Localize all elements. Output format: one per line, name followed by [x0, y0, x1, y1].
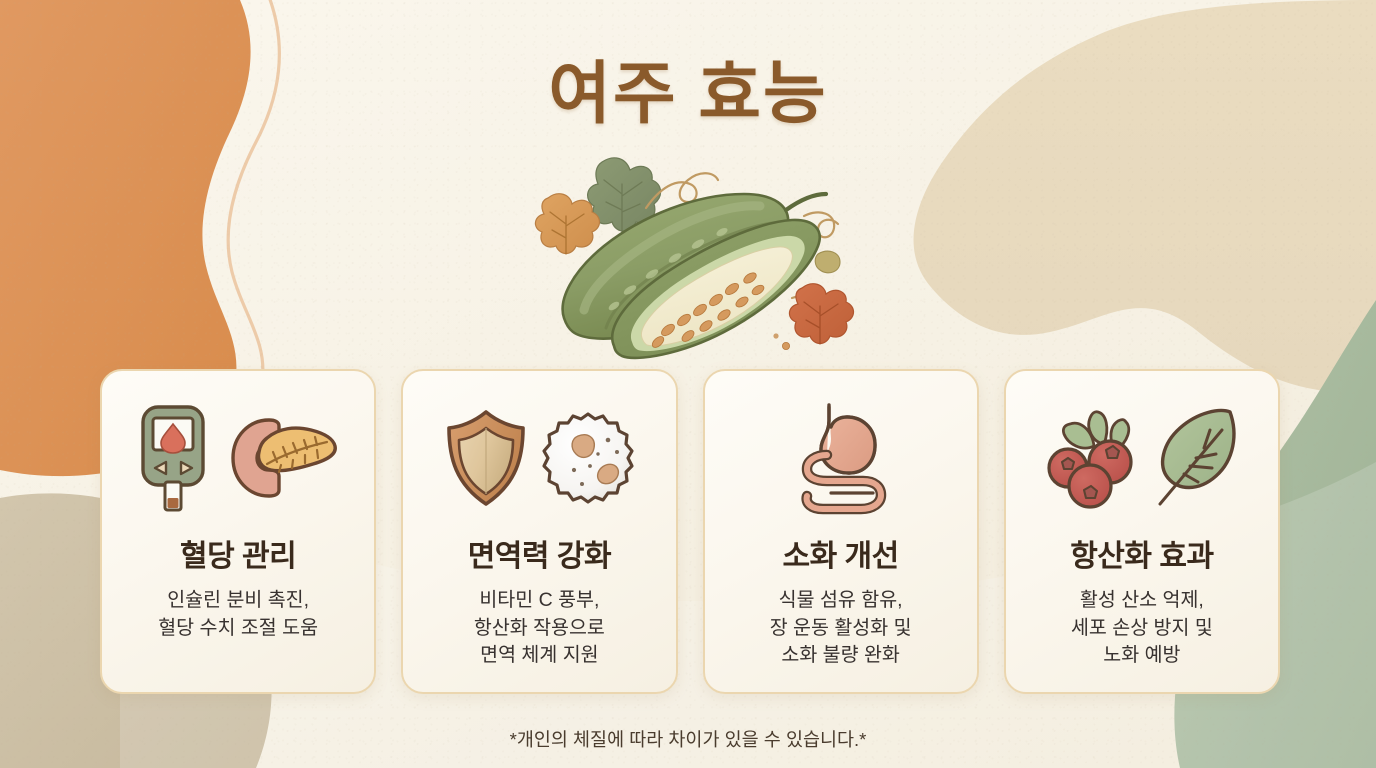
benefit-card-digestion[interactable]: 소화 개선 식물 섬유 함유, 장 운동 활성화 및 소화 불량 완화 [703, 369, 979, 694]
card-title: 면역력 강화 [468, 531, 611, 575]
card-icon-group [1040, 399, 1244, 517]
card-icon-group [787, 399, 895, 517]
benefit-card-row: 혈당 관리 인슐린 분비 촉진, 혈당 수치 조절 도움 [100, 369, 1280, 694]
page-title: 여주 효능 [0, 38, 1376, 137]
bitter-melon-illustration [518, 150, 858, 360]
loose-seed [782, 342, 789, 349]
berries-icon [1040, 406, 1146, 510]
pancreas-body [259, 428, 336, 471]
card-description: 활성 산소 억제, 세포 손상 방지 및 노화 예방 [1071, 587, 1213, 670]
leaf-icon [1152, 404, 1244, 512]
card-icon-group [135, 399, 341, 517]
card-description: 인슐린 분비 촉진, 혈당 수치 조절 도움 [158, 587, 318, 642]
card-title: 소화 개선 [783, 531, 899, 575]
leaf-rust-front [789, 284, 853, 344]
stomach-intestine-icon [787, 399, 895, 517]
card-icon-group [440, 399, 638, 517]
nucleus-lobe [572, 435, 594, 458]
glucose-meter-icon [135, 402, 217, 514]
leaf-orange-back [535, 194, 599, 254]
shield-icon [440, 406, 532, 510]
card-title: 항산화 효과 [1070, 531, 1213, 575]
tendril-leaflet [815, 251, 840, 273]
benefit-card-blood-sugar[interactable]: 혈당 관리 인슐린 분비 촉진, 혈당 수치 조절 도움 [100, 369, 376, 694]
benefit-card-immunity[interactable]: 면역력 강화 비타민 C 풍부, 항산화 작용으로 면역 체계 지원 [401, 369, 677, 694]
disclaimer-note: *개인의 체질에 따라 차이가 있을 수 있습니다.* [0, 726, 1376, 752]
white-blood-cell-icon [538, 408, 638, 508]
card-description: 식물 섬유 함유, 장 운동 활성화 및 소화 불량 완화 [770, 587, 912, 670]
loose-seed [773, 333, 778, 338]
card-description: 비타민 C 풍부, 항산화 작용으로 면역 체계 지원 [474, 587, 605, 670]
card-title: 혈당 관리 [180, 531, 296, 575]
infographic-canvas: 여주 효능 [0, 0, 1376, 768]
benefit-card-antioxidant[interactable]: 항산화 효과 활성 산소 억제, 세포 손상 방지 및 노화 예방 [1004, 369, 1280, 694]
pancreas-icon [223, 406, 341, 510]
